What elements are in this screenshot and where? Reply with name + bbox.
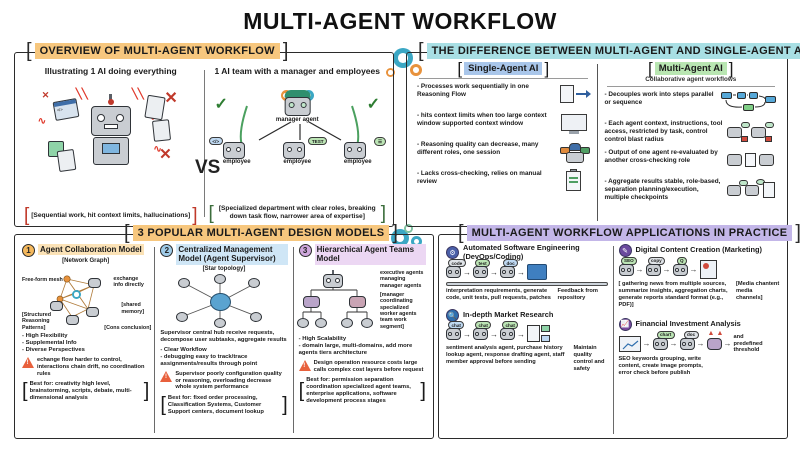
divider [419,78,588,79]
bullet-text: hits context limits when too large conte… [417,112,547,127]
model-1-title: Agent Collaboration Model [38,244,144,255]
bullet-row: - Aggregate results stable, role-based, … [605,178,778,202]
overview-multi-caption-text: [Specialized department with clear roles… [216,205,379,221]
robot-icon [473,328,488,340]
pro-item: - High Flexibility [22,333,149,340]
robot-icon [500,266,515,278]
single-agent-column: [ Single-Agent AI ] - Processes work seq… [412,62,595,223]
app-3-flow: SEO → copy [619,260,781,279]
overview-single-heading: Illustrating 1 AI doing everything [24,66,198,77]
model-1-warning: echange flow harder to control, interact… [22,357,149,377]
hierarchy-diagram: executive agents managing manager agents… [299,268,426,334]
supervisor-node-icon [210,293,231,311]
bracket-right: ] [795,227,800,239]
robot-icon [646,264,661,276]
application-item-software-engineering: ⚙ Automated Software Engineering (DevOps… [446,244,608,302]
app-1-note: Feedback from repository [558,288,608,302]
design-model-1: 1 Agent Collaboration Model [Network Gra… [18,244,153,436]
flow-nodes-icon [721,91,777,115]
robot-torso-icon [93,137,129,165]
bullet-text: Lacks cross-checking, relies on manual r… [417,170,542,185]
bracket-left: [ [26,45,32,57]
robot-icon [473,266,488,278]
arrow-icon: → [490,330,498,339]
design-model-2: 2 Centralized Management Model (Agent Su… [156,244,291,436]
network-graph-diagram: Free-form mesh exchange info directly [S… [22,265,149,327]
content-pen-icon: ✎ [619,244,632,257]
bracket-right: ] [544,64,549,74]
pro-item: - High Scalability [299,336,426,343]
panel-overview-label: OVERVIEW OF MULTI-AGENT WORKFLOW [35,43,280,59]
app-4-header: 📈 Financial Investment Analysis [619,318,781,331]
arrow-icon: → [724,339,732,348]
bullet-text: Reasoning quality can decrease, many dif… [417,141,538,156]
app-4-title: Financial Investment Analysis [636,320,741,329]
bullet-row: - Output of one agent re-evaluated by an… [605,149,778,173]
worker-agent-icon [315,318,327,328]
pro-item: - Supplemental Info [22,340,149,347]
bullet-row: - Decouples work into steps parallel or … [605,91,778,115]
employee-label: employee [344,159,372,165]
app-4-note: and predefined threshold [734,334,772,355]
panel-applications-title: [ MULTI-AGENT WORKFLOW APPLICATIONS IN P… [458,225,800,241]
employee-chip-doc: ☰ [374,137,385,146]
pro-item: - debugging easy to track/trace assignme… [160,354,287,368]
employee-chip-code: </> [209,137,223,145]
applications-right-column: ✎ Digital Content Creation (Marketing) S… [616,244,784,436]
label-free-form-mesh: Free-form mesh [22,277,63,283]
arrow-icon: → [636,265,644,274]
robot-head-icon [223,142,245,159]
overview-multi-caption: [ [Specialized department with clear rol… [209,205,387,221]
model-1-topology: [Network Graph] [22,258,149,264]
warning-triangle-icon [22,357,34,368]
label-structured-reasoning: [Structured Reasoning Patterns] [22,312,56,331]
warning-triangle-icon [160,371,172,382]
bracket-left: [ [457,64,462,74]
robot-icon [446,328,461,340]
model-1-best-for: [ Best for: creativity high level, brain… [22,381,149,402]
label-manager-coordinating: [manager coordinating specialized worker… [380,292,426,330]
arrow-icon: → [463,268,471,277]
model-2-title: Centralized Management Model (Agent Supe… [176,244,287,265]
arrow-icon: → [643,339,651,348]
robot-node-icon [88,278,101,288]
robot-icon [653,338,668,350]
vs-label: VS [195,157,220,179]
two-robots-toolbox-icon [727,120,777,144]
bracket-left: [ [160,400,166,411]
arrow-icon: → [663,265,671,274]
robot-icon [680,338,695,350]
model-number-badge: 2 [160,244,173,257]
warning-text: Design operation resource costs large ca… [314,360,426,374]
label-cons-conclusion: [Cons conclusion] [104,325,151,331]
bracket-right: ] [729,64,734,74]
overloaded-robot-illustration: ✕ ✕ ✕ ∿ ╲╲ ╲╲ ∿ ∿ </> [36,84,186,169]
page-title: MULTI-AGENT WORKFLOW [0,8,800,35]
app-2-flow: chat → chat [446,325,608,343]
label-executive-agents: executive agents managing manager agents [380,270,426,289]
bullet-row: - Lacks cross-checking, relies on manual… [417,170,590,194]
bracket-right: ] [144,386,150,397]
panel-applications-label: MULTI-AGENT WORKFLOW APPLICATIONS IN PRA… [467,225,793,241]
model-number-badge: 1 [22,244,35,257]
clipboard-check-icon [560,170,590,194]
single-agent-tag: [ Single-Agent AI ] [415,62,592,75]
model-2-description: Supervisor central hub receive requests,… [160,330,287,344]
bullet-row: - Reasoning quality can decrease, many d… [417,141,590,165]
single-agent-tag-label: Single-Agent AI [464,62,542,75]
gear-icon [72,290,81,299]
model-1-pros: - High Flexibility - Supplemental Info -… [22,333,149,354]
stress-lines-icon: ∿ [153,144,161,155]
bracket-right: ] [392,227,398,239]
edit-document-icon [700,260,717,279]
arrow-icon: → [517,330,525,339]
chart-monitor-icon [619,336,641,352]
overview-single-caption: [ [Sequential work, hit context limits, … [22,210,200,221]
employee-label: employee [283,159,311,165]
arrow-icon: → [490,268,498,277]
robot-icon [500,328,515,340]
app-2-note: Maintain quality control and safety [574,345,608,373]
robot-node-icon [66,315,79,325]
bullet-text: Decouples work into steps parallel or se… [605,91,714,106]
team-robots-illustration: ✓ ✓ manager agent [207,88,389,178]
document-list-icon [560,83,590,107]
label-exchange-info: exchange info directly [113,276,149,289]
bracket-left: [ [458,227,464,239]
model-3-title: Hierarchical Agent Teams Model [315,244,426,265]
executive-agent-icon [323,274,343,288]
robot-head-icon [91,106,131,136]
repository-icon [527,264,547,280]
robot-icon [673,264,688,276]
overview-single-ai-column: Illustrating 1 AI doing everything ✕ ✕ ✕… [20,64,202,223]
difference-divider [597,64,598,221]
model-3-best-for: [ Best for: permission separation coordi… [299,377,426,405]
employee-chip-test: TEST [308,137,327,145]
panel-difference-title: [ THE DIFFERENCE BETWEEN MULTI-AGENT AND… [418,43,800,59]
best-for-text: Best for: creativity high level, brainst… [30,381,142,402]
report-chart-icon [527,325,551,343]
warning-text: echange flow harder to control, interact… [37,357,149,377]
arrow-icon: → [670,339,678,348]
app-1-description: interpretation requirements, generate co… [446,288,554,302]
bullet-text: Processes work sequentially in one Reaso… [417,83,529,98]
worker-agent-icon [361,318,373,328]
bracket-left: [ [124,227,130,239]
alert-icon: ▲ [708,330,715,337]
panel-design-models: [ 3 POPULAR MULTI-AGENT DESIGN MODELS ] … [14,234,434,439]
app-4-flow: → chart → doc [619,334,781,355]
applications-left-column: ⚙ Automated Software Engineering (DevOps… [443,244,611,436]
best-for-text: Best for: fixed order processing, Classi… [168,395,280,416]
pro-item: - domain large, multi-domains, add more … [299,343,426,357]
bracket-left: [ [299,386,305,397]
pro-item: - Diverse Perspectives [22,347,149,354]
bullet-row: - hits context limits when too large con… [417,112,590,136]
bracket-right: ] [420,386,426,397]
design-model-3: 3 Hierarchical Agent Teams Model [295,244,430,436]
multi-hat-robot-icon [560,141,590,165]
panel-design-models-title: [ 3 POPULAR MULTI-AGENT DESIGN MODELS ] [124,225,398,241]
panel-design-models-label: 3 POPULAR MULTI-AGENT DESIGN MODELS [133,225,390,241]
arrow-icon: → [463,330,471,339]
robot-node-icon [86,307,99,317]
multi-agent-bullets: - Decouples work into steps parallel or … [603,91,780,202]
star-topology-diagram [160,274,287,330]
model-1-header: 1 Agent Collaboration Model [22,244,149,257]
model-2-topology: [Star topology] [160,266,287,272]
bullet-text: Aggregate results stable, role-based, se… [605,178,721,201]
app-1-flow: code → test [446,264,608,280]
best-for-text: Best for: permission separation coordina… [306,377,418,405]
document-icon [152,119,171,142]
bracket-right: ] [381,208,386,219]
cross-mark-icon: ✕ [42,90,50,101]
code-card-icon: </> [52,98,79,121]
bracket-left: [ [22,386,28,397]
models-divider [293,247,294,433]
worker-agent-icon [297,318,309,328]
bracket-left: [ [24,210,29,221]
model-3-pros: - High Scalability - domain large, multi… [299,336,426,357]
panel-applications: [ MULTI-AGENT WORKFLOW APPLICATIONS IN P… [438,234,788,439]
warning-triangle-icon [299,360,311,371]
overview-multi-heading: 1 AI team with a manager and employees [211,66,385,77]
monitor-text-icon [560,112,590,136]
bracket-right: ] [283,45,289,57]
alert-icon: ▲ [717,330,724,337]
application-item-financial-analysis: 📈 Financial Investment Analysis → chart [619,318,781,377]
app-2-header: 🔍 In-depth Market Research [446,309,608,322]
model-3-header: 3 Hierarchical Agent Teams Model [299,244,426,265]
overview-multi-ai-column: 1 AI team with a manager and employees ✓… [207,64,389,223]
multi-agent-tag: [ Multi-Agent AI ] [603,62,780,75]
devops-gear-icon: ⚙ [446,246,459,259]
divider [607,86,776,87]
robot-head-icon [283,142,305,159]
employee-robot-2: TEST employee [283,142,311,165]
robot-icon [707,338,722,350]
single-agent-bullets: - Processes work sequentially in one Rea… [415,83,592,194]
multi-agent-tag-label: Multi-Agent AI [655,62,727,75]
overview-single-caption-text: [Sequential work, hit context limits, ha… [31,212,190,220]
bullet-text: Each agent context, instructions, tool a… [605,120,723,143]
bracket-right: ] [192,210,197,221]
panel-difference: [ THE DIFFERENCE BETWEEN MULTI-AGENT AND… [406,52,788,227]
employee-robot-3: ☰ employee [344,142,372,165]
app-3-header: ✎ Digital Content Creation (Marketing) [619,244,781,257]
application-item-market-research: 🔍 In-depth Market Research chat [446,309,608,373]
conveyor-belt-icon [446,282,608,286]
model-3-warning: Design operation resource costs large ca… [299,360,426,374]
app-1-header: ⚙ Automated Software Engineering (DevOps… [446,244,608,261]
bracket-left: [ [418,45,424,57]
panel-overview-title: [ OVERVIEW OF MULTI-AGENT WORKFLOW ] [26,43,288,59]
app-3-title: Digital Content Creation (Marketing) [636,246,762,255]
bullet-row: - Processes work sequentially in one Rea… [417,83,590,107]
document-icon [56,149,76,172]
employee-label: employee [223,159,251,165]
app-3-description: [ gathering news from multiple sources, … [619,281,733,309]
applications-divider [613,246,614,434]
model-number-badge: 3 [299,244,312,257]
panel-difference-label: THE DIFFERENCE BETWEEN MULTI-AGENT AND S… [427,43,800,59]
worker-agent-icon [341,318,353,328]
finance-chart-icon: 📈 [619,318,632,331]
stress-lines-icon: ╲╲ [76,89,88,100]
arrow-icon: → [697,339,705,348]
app-3-note: [Media chantent media channels] [736,281,780,309]
panel-overview: [ OVERVIEW OF MULTI-AGENT WORKFLOW ] Ill… [14,52,394,227]
bullet-text: Output of one agent re-evaluated by anot… [605,149,718,164]
bracket-right: ] [282,400,288,411]
app-2-description: sentiment analysis agent, purchase histo… [446,345,570,373]
pro-item: - Clear Workflow [160,347,287,354]
cross-mark-icon: ✕ [164,88,177,108]
arrow-icon: → [517,268,525,277]
employee-robot-1: </> employee [223,142,251,165]
document-icon [144,95,165,121]
bracket-left: [ [209,208,214,219]
model-2-warning: Supervisor poorly configuration quality … [160,371,287,391]
infographic-page: MULTI-AGENT WORKFLOW [ OVERVIEW OF MULTI… [0,0,800,450]
multi-agent-column: [ Multi-Agent AI ] Collaborative agent w… [600,62,783,223]
model-2-best-for: [ Best for: fixed order processing, Clas… [160,395,287,416]
robots-checklist-icon [727,178,777,202]
bracket-left: [ [648,64,653,74]
overview-divider [204,70,205,217]
multi-agent-subtitle: Collaborative agent workflows [603,76,780,83]
label-shared-memory: [shared memory] [121,302,149,315]
robot-icon [619,264,634,276]
model-2-pros: - Clear Workflow - debugging easy to tra… [160,347,287,368]
robot-node-icon [50,301,63,311]
stress-lines-icon: ∿ [38,116,46,127]
robot-icon [446,266,461,278]
manager-agent-icon [303,296,320,308]
warning-text: Supervisor poorly configuration quality … [175,371,287,391]
application-item-content-creation: ✎ Digital Content Creation (Marketing) S… [619,244,781,309]
manager-agent-icon [349,296,366,308]
app-2-title: In-depth Market Research [463,311,553,320]
robot-head-icon [344,142,366,159]
model-2-header: 2 Centralized Management Model (Agent Su… [160,244,287,265]
app-4-description: SEO keywords grouping, write content, cr… [619,356,714,377]
arrow-icon: → [690,265,698,274]
models-divider [154,247,155,433]
robots-handoff-doc-icon [727,149,777,173]
bullet-row: - Each agent context, instructions, tool… [605,120,778,144]
